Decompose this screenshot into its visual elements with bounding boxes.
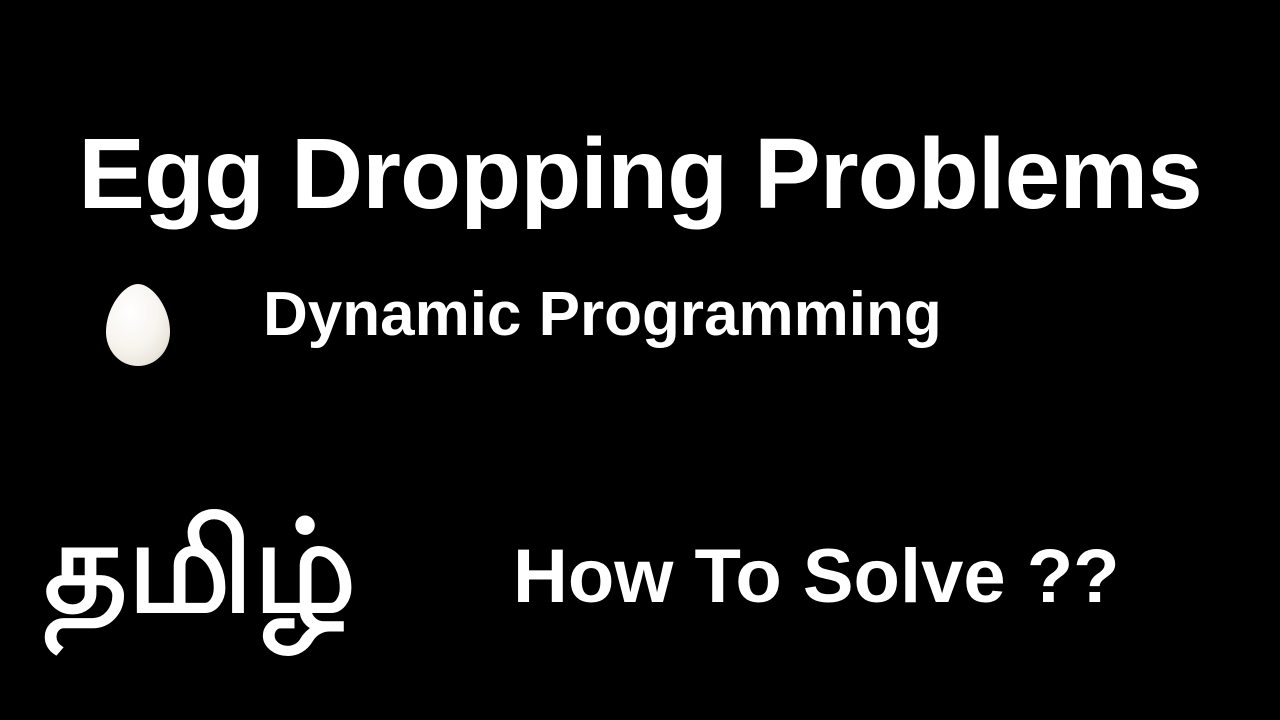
language-label: தமிழ் bbox=[44, 492, 356, 643]
egg-icon bbox=[100, 283, 176, 367]
bottom-row: தமிழ் How To Solve ?? bbox=[0, 492, 1280, 672]
title-row: Egg Dropping Problems bbox=[0, 124, 1280, 224]
video-thumbnail-canvas: Egg Dropping Problems Dynamic Programmin… bbox=[0, 0, 1280, 720]
page-subtitle: Dynamic Programming bbox=[263, 284, 942, 346]
page-title: Egg Dropping Problems bbox=[78, 124, 1201, 224]
call-to-action-text: How To Solve ?? bbox=[513, 539, 1120, 615]
subtitle-row: Dynamic Programming bbox=[0, 278, 1280, 373]
